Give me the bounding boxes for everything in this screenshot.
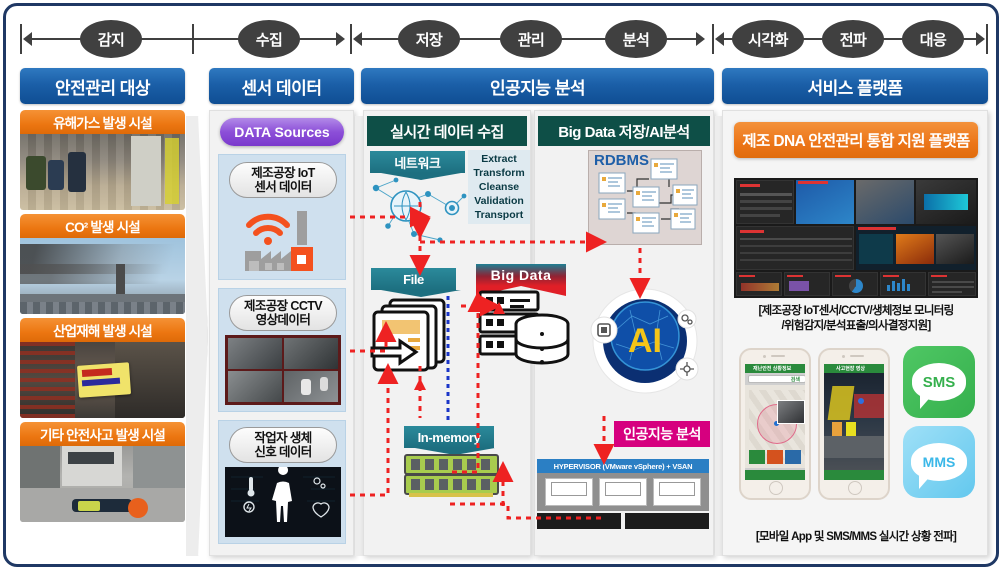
sensor-item-cctv-label: 제조공장 CCTV 영상데이터: [229, 295, 337, 331]
phone-1-title: 재난안전 상황정보: [753, 365, 791, 372]
stage-tick-left: [712, 24, 714, 54]
stage-tick-left: [20, 24, 22, 54]
arrow-left-icon: [23, 32, 32, 46]
etl-cleanse: Cleanse: [472, 180, 526, 194]
phone-1-screen: 재난안전 상황정보 검색: [745, 364, 805, 480]
etl-list: Extract Transform Cleanse Validation Tra…: [468, 150, 530, 224]
mobile-app-phone-1[interactable]: 재난안전 상황정보 검색: [739, 348, 811, 500]
etl-extract: Extract: [472, 152, 526, 166]
platform-dashboard-image[interactable]: [734, 178, 978, 298]
sensor-item-cctv[interactable]: 제조공장 CCTV 영상데이터: [218, 288, 346, 412]
rdbms-label: RDBMS: [594, 152, 649, 169]
stage-tick-left: [350, 24, 352, 54]
stage-tick-right: [986, 24, 988, 54]
stage-daeung: 대응: [902, 20, 964, 58]
platform-caption-line-2: /위험감지/분석표출/의사결정지원]: [728, 319, 984, 334]
diagram-frame: 감지 수집 저장 관리 분석 시각화 전파 대응 안전관리 대상 센서 데이터: [3, 3, 999, 567]
etl-validation: Validation: [472, 194, 526, 208]
file-banner: File: [371, 268, 456, 290]
stage-gamji: 감지: [80, 20, 142, 58]
label-line-2: 센서 데이터: [254, 180, 311, 194]
stage-gwanri: 관리: [500, 20, 562, 58]
arrow-right-icon: [696, 32, 705, 46]
facility-photo: [20, 342, 185, 418]
facility-card-1[interactable]: CO² 발생 시설: [20, 214, 185, 314]
label-line-2: 영상데이터: [256, 313, 311, 327]
facility-card-2[interactable]: 산업재해 발생 시설: [20, 318, 185, 418]
network-graph-icon: [366, 174, 476, 254]
server-database-icon: [476, 290, 571, 372]
divider-tick: [192, 24, 194, 54]
realtime-collect-header: 실시간 데이터 수집: [367, 116, 527, 146]
arrow-right-icon: [336, 32, 345, 46]
hypervisor-banner: HYPERVISOR (VMware vSphere) + VSAN: [537, 459, 709, 473]
sensor-item-bio-label: 작업자 생체 신호 데이터: [229, 427, 337, 463]
data-sources-pill: DATA Sources: [220, 118, 344, 146]
stage-sigakhwa: 시각화: [732, 20, 804, 58]
facility-card-3[interactable]: 기타 안전사고 발생 시설: [20, 422, 185, 522]
stage-group-1: 감지 수집: [20, 18, 348, 60]
stage-bar: 감지 수집 저장 관리 분석 시각화 전파 대응: [20, 18, 988, 60]
sensor-item-iot[interactable]: 제조공장 IoT 센서 데이터: [218, 154, 346, 280]
vm-host-row: [537, 473, 709, 511]
facility-photo: [20, 446, 185, 522]
sensor-item-bio[interactable]: 작업자 생체 신호 데이터: [218, 420, 346, 544]
mobile-caption: [모바일 App 및 SMS/MMS 실시간 상황 전파]: [728, 530, 984, 545]
storage-node-right: [625, 513, 709, 529]
phone-2-screen: 사고현장 영상: [824, 364, 884, 480]
platform-title: 제조 DNA 안전관리 통합 지원 플랫폼: [734, 122, 978, 158]
ai-label: AI: [628, 322, 662, 360]
iot-factory-icon: [241, 203, 327, 273]
platform-caption-line-1: [제조공장 IoT센서/CCTV/생체정보 모니터링: [728, 304, 984, 319]
ai-analysis-tag: 인공지능 분석: [614, 421, 710, 447]
file-transfer-icon: [368, 294, 468, 372]
stage-sujip: 수집: [238, 20, 300, 58]
etl-transport: Transport: [472, 208, 526, 222]
column-header-service: 서비스 플랫폼: [722, 68, 988, 104]
facility-label: CO² 발생 시설: [20, 214, 185, 238]
stage-bunseok: 분석: [605, 20, 667, 58]
ram-module-icon: [404, 454, 499, 498]
facility-photo: [20, 238, 185, 314]
phone-1-search-label[interactable]: 검색: [791, 376, 800, 383]
phone-2-title: 사고현장 영상: [836, 365, 865, 372]
label-line-2: 신호 데이터: [254, 445, 311, 459]
facility-card-0[interactable]: 유해가스 발생 시설: [20, 110, 185, 210]
label-line-1: 작업자 생체: [254, 431, 311, 445]
bigdata-ribbon: Big Data: [476, 264, 566, 286]
mms-label: MMS: [911, 443, 967, 481]
cctv-quad-grid: [225, 335, 341, 405]
stage-jeonpa: 전파: [822, 20, 884, 58]
label-line-1: 제조공장 IoT: [251, 166, 314, 180]
column-header-targets: 안전관리 대상: [20, 68, 185, 104]
label-line-1: 제조공장 CCTV: [244, 299, 322, 313]
arrow-right-icon: [976, 32, 985, 46]
arrow-left-icon: [353, 32, 362, 46]
biosignal-figure-icon: [225, 467, 341, 537]
facility-label: 유해가스 발생 시설: [20, 110, 185, 134]
ai-globe-graphic: AI: [590, 286, 700, 396]
bigdata-storage-header: Big Data 저장/AI분석: [538, 116, 710, 146]
sensor-item-iot-label: 제조공장 IoT 센서 데이터: [229, 162, 337, 198]
inmemory-banner: In-memory: [404, 426, 494, 448]
storage-node-left: [537, 513, 621, 529]
stage-group-2: 저장 관리 분석: [350, 18, 708, 60]
facility-photo: [20, 134, 185, 210]
facility-label: 산업재해 발생 시설: [20, 318, 185, 342]
column-header-sensor: 센서 데이터: [209, 68, 354, 104]
platform-caption: [제조공장 IoT센서/CCTV/생체정보 모니터링 /위험감지/분석표출/의사…: [728, 304, 984, 334]
facility-label: 기타 안전사고 발생 시설: [20, 422, 185, 446]
stage-group-3: 시각화 전파 대응: [712, 18, 988, 60]
etl-transform: Transform: [472, 166, 526, 180]
sms-label: SMS: [912, 363, 966, 401]
stage-jeojang: 저장: [398, 20, 460, 58]
mms-icon[interactable]: MMS: [903, 426, 975, 498]
flow-arrow-targets-to-sensor: [186, 116, 208, 556]
sms-icon[interactable]: SMS: [903, 346, 975, 418]
network-banner: 네트워크: [370, 151, 465, 173]
mobile-app-phone-2[interactable]: 사고현장 영상: [818, 348, 890, 500]
stage-divider-1: [192, 18, 193, 60]
column-header-ai: 인공지능 분석: [361, 68, 714, 104]
arrow-left-icon: [715, 32, 724, 46]
